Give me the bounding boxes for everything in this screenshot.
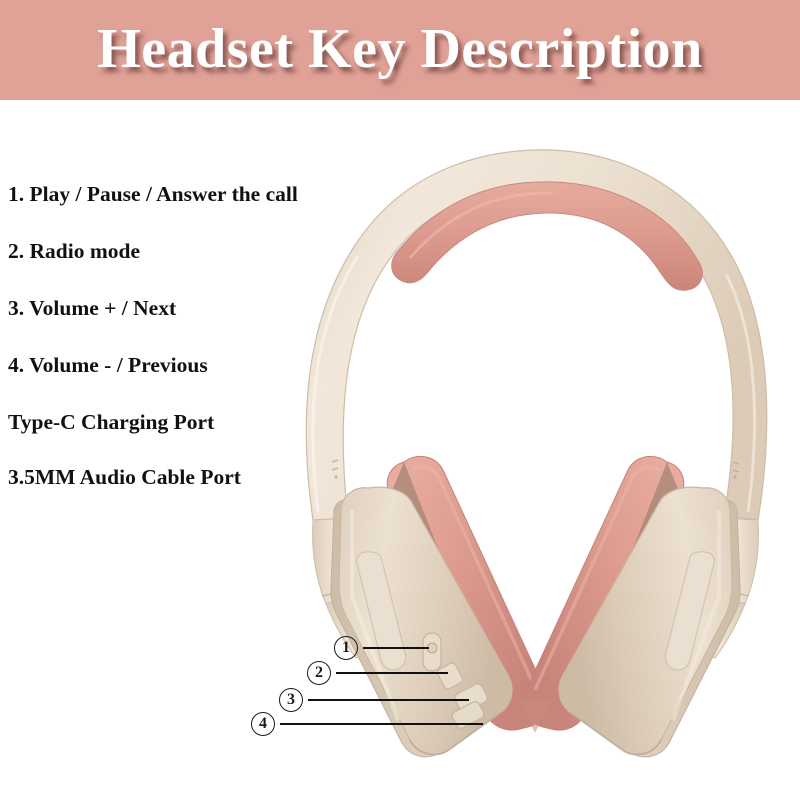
- callout-leader-4: [280, 723, 483, 725]
- callout-bubble-4: 4: [251, 712, 275, 736]
- callout-leader-1: [363, 647, 429, 649]
- page-root: Headset Key Description: [0, 0, 800, 800]
- callout-leader-2: [336, 672, 448, 674]
- callout-bubble-2: 2: [307, 661, 331, 685]
- callout-bubble-3: 3: [279, 688, 303, 712]
- callout-bubble-1: 1: [334, 636, 358, 660]
- callout-annotations: 1 2 3 4: [0, 0, 800, 800]
- callout-leader-3: [308, 699, 469, 701]
